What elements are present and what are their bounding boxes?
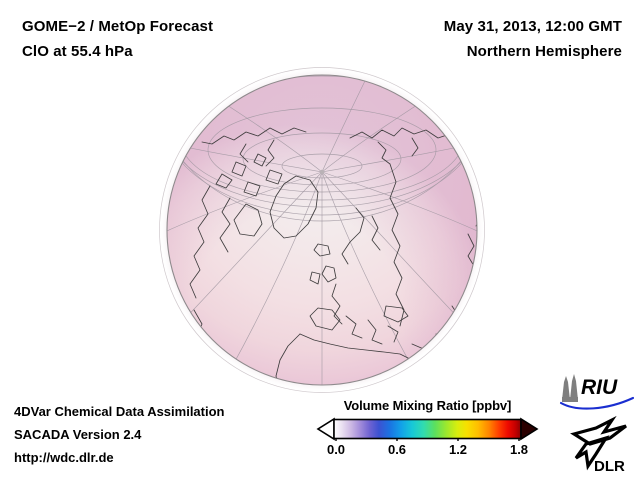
colorbar-tick-0: 0.0 — [327, 442, 345, 457]
colorbar-tick-3: 1.8 — [510, 442, 528, 457]
colorbar-title: Volume Mixing Ratio [ppbv] — [315, 398, 540, 413]
method-label: 4DVar Chemical Data Assimilation — [14, 400, 225, 423]
riu-logo-text: RIU — [581, 376, 618, 399]
colorbar-gradient-svg — [315, 417, 540, 441]
header-right-block: May 31, 2013, 12:00 GMT Northern Hemisph… — [444, 14, 622, 64]
colorbar-underflow-arrow — [318, 419, 334, 439]
datetime-label: May 31, 2013, 12:00 GMT — [444, 14, 622, 39]
dlr-logo-svg: DLR — [566, 414, 634, 476]
riu-logo-svg: RIU — [557, 372, 637, 412]
colorbar-overflow-arrow — [521, 419, 537, 439]
colorbar: Volume Mixing Ratio [ppbv] — [315, 398, 540, 460]
version-label: SACADA Version 2.4 — [14, 423, 225, 446]
riu-logo[interactable]: RIU — [557, 372, 637, 412]
cathedral-spires-icon — [562, 374, 578, 402]
globe-svg — [150, 58, 500, 408]
north-pole-marker — [320, 170, 324, 174]
colorbar-gradient-bar — [334, 420, 521, 439]
header-left-block: GOME−2 / MetOp Forecast ClO at 55.4 hPa — [22, 14, 213, 64]
url-link[interactable]: http://wdc.dlr.de — [14, 446, 225, 469]
globe-map[interactable] — [150, 58, 500, 408]
colorbar-tick-1: 0.6 — [388, 442, 406, 457]
dlr-logo-text: DLR — [594, 458, 625, 475]
colorbar-tick-labels: 0.0 0.6 1.2 1.8 — [315, 442, 540, 460]
dlr-logo[interactable]: DLR — [566, 414, 634, 476]
colorbar-tick-2: 1.2 — [449, 442, 467, 457]
instrument-title: GOME−2 / MetOp Forecast — [22, 14, 213, 39]
footer-left-block: 4DVar Chemical Data Assimilation SACADA … — [14, 400, 225, 469]
